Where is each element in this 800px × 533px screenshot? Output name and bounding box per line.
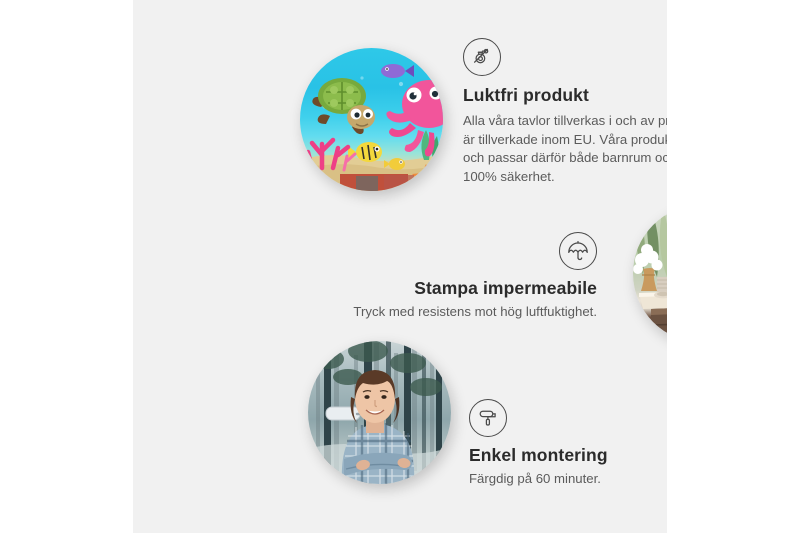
screenshot-canvas: Cartoon underwater scene with green sea … bbox=[0, 0, 800, 533]
feature-odorless-icon-wrap bbox=[463, 38, 667, 76]
no-fragrance-spray-icon bbox=[463, 38, 501, 76]
feature-waterproof: Stampa impermeabile Tryck med resistens … bbox=[339, 232, 597, 322]
paint-roller-icon bbox=[469, 399, 507, 437]
photo-underwater: Cartoon underwater scene with green sea … bbox=[300, 48, 443, 191]
photo-forest: Smiling woman in plaid shirt holding a p… bbox=[308, 341, 451, 484]
underwater-scene-art bbox=[300, 48, 443, 191]
forest-scene-art bbox=[308, 341, 451, 484]
bathroom-scene-art bbox=[633, 205, 667, 342]
umbrella-icon bbox=[559, 232, 597, 270]
feature-waterproof-title: Stampa impermeabile bbox=[339, 278, 597, 299]
product-feature-panel: Cartoon underwater scene with green sea … bbox=[133, 0, 667, 533]
feature-easy-install-title: Enkel montering bbox=[469, 445, 667, 466]
feature-waterproof-body: Tryck med resistens mot hög luftfuktighe… bbox=[339, 303, 597, 322]
feature-odorless-title: Luktfri produkt bbox=[463, 85, 667, 106]
feature-waterproof-icon-wrap bbox=[339, 232, 597, 270]
feature-easy-install: Enkel montering Färgdig på 60 minuter. bbox=[469, 399, 667, 489]
feature-odorless-body: Alla våra tavlor tillverkas i och av pro… bbox=[463, 112, 667, 187]
feature-easy-install-body: Färgdig på 60 minuter. bbox=[469, 470, 667, 489]
feature-odorless: Luktfri produkt Alla våra tavlor tillver… bbox=[463, 38, 667, 187]
photo-bathroom: Bathroom vanity with wooden cabinet, sto… bbox=[633, 205, 667, 342]
feature-easy-install-icon-wrap bbox=[469, 399, 667, 437]
